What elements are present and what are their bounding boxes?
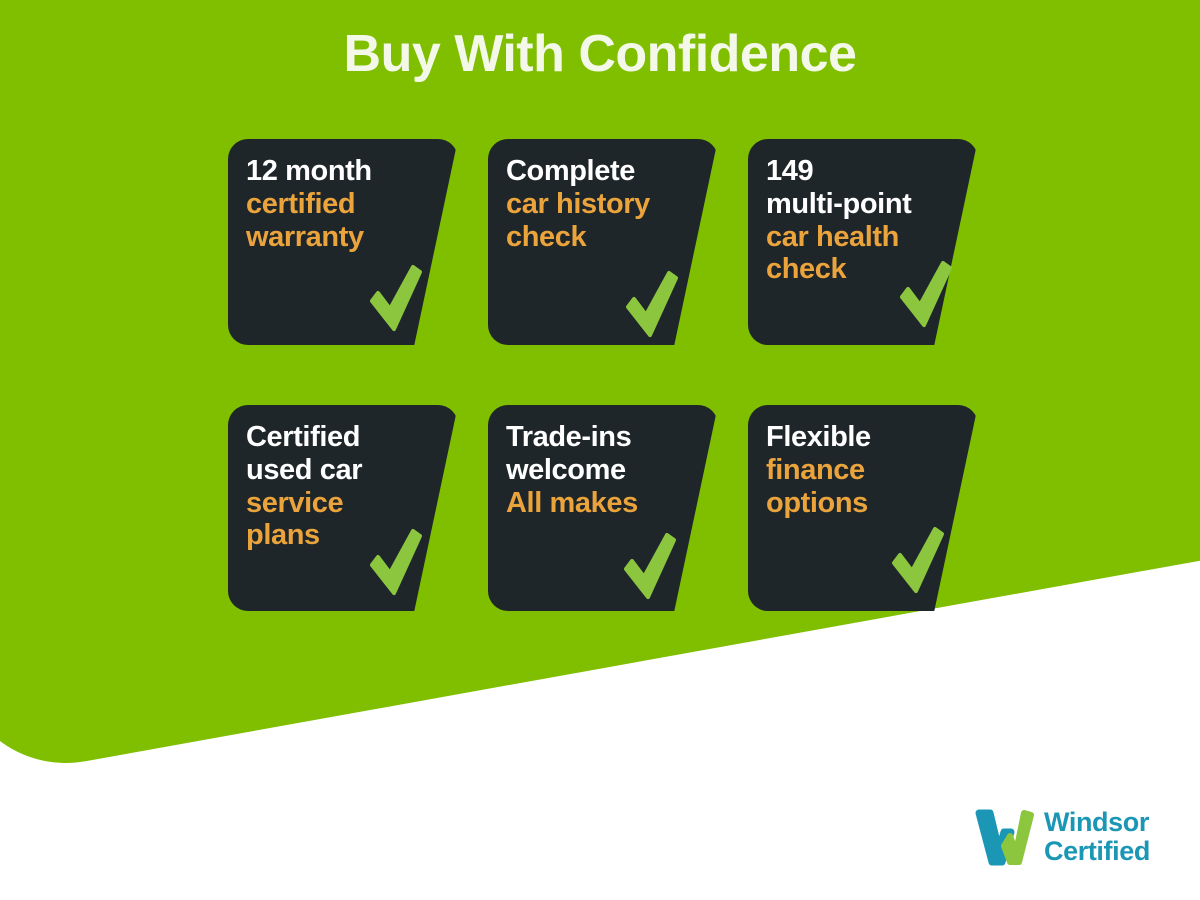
- card-12-month-certified-warranty[interactable]: 12 month certified warranty: [228, 139, 458, 345]
- check-icon: [898, 259, 952, 329]
- poster-canvas: Buy With Confidence 12 month certified w…: [0, 0, 1200, 900]
- card-line-orange: car health: [766, 221, 948, 254]
- page-title: Buy With Confidence: [0, 26, 1200, 83]
- card-line-white: welcome: [506, 454, 688, 487]
- logo-line-2: Certified: [1044, 837, 1150, 866]
- check-icon: [624, 269, 678, 339]
- card-trade-ins-welcome-all-makes[interactable]: Trade-ins welcome All makes: [488, 405, 718, 611]
- check-icon: [890, 525, 944, 595]
- check-icon: [368, 527, 422, 597]
- check-icon: [368, 263, 422, 333]
- card-line-white: Complete: [506, 155, 688, 188]
- card-line-orange: warranty: [246, 221, 428, 254]
- card-line-orange: check: [506, 221, 688, 254]
- card-line-white: Certified: [246, 421, 428, 454]
- card-flexible-finance-options[interactable]: Flexible finance options: [748, 405, 978, 611]
- card-line-white: multi-point: [766, 188, 948, 221]
- card-line-white: used car: [246, 454, 428, 487]
- windsor-certified-logo[interactable]: Windsor Certified: [974, 808, 1150, 866]
- card-text: Trade-ins welcome All makes: [506, 421, 688, 519]
- windsor-w-logo-icon: [974, 808, 1034, 866]
- card-certified-used-car-service-plans[interactable]: Certified used car service plans: [228, 405, 458, 611]
- card-line-white: 149: [766, 155, 948, 188]
- card-text: 12 month certified warranty: [246, 155, 428, 253]
- benefits-grid: 12 month certified warranty Complete car…: [228, 139, 976, 611]
- card-line-orange: options: [766, 487, 948, 520]
- card-line-orange: certified: [246, 188, 428, 221]
- card-line-white: Flexible: [766, 421, 948, 454]
- logo-wordmark: Windsor Certified: [1044, 808, 1150, 865]
- card-line-white: Trade-ins: [506, 421, 688, 454]
- card-line-orange: service: [246, 487, 428, 520]
- card-text: Flexible finance options: [766, 421, 948, 519]
- logo-line-1: Windsor: [1044, 808, 1150, 837]
- benefits-row-1: 12 month certified warranty Complete car…: [228, 139, 976, 345]
- card-line-orange: car history: [506, 188, 688, 221]
- card-text: Complete car history check: [506, 155, 688, 253]
- card-line-orange: All makes: [506, 487, 688, 520]
- check-icon: [622, 531, 676, 601]
- card-line-white: 12 month: [246, 155, 428, 188]
- card-complete-car-history-check[interactable]: Complete car history check: [488, 139, 718, 345]
- card-149-multi-point-car-health-check[interactable]: 149 multi-point car health check: [748, 139, 978, 345]
- benefits-row-2: Certified used car service plans Trade-i…: [228, 405, 976, 611]
- card-line-orange: finance: [766, 454, 948, 487]
